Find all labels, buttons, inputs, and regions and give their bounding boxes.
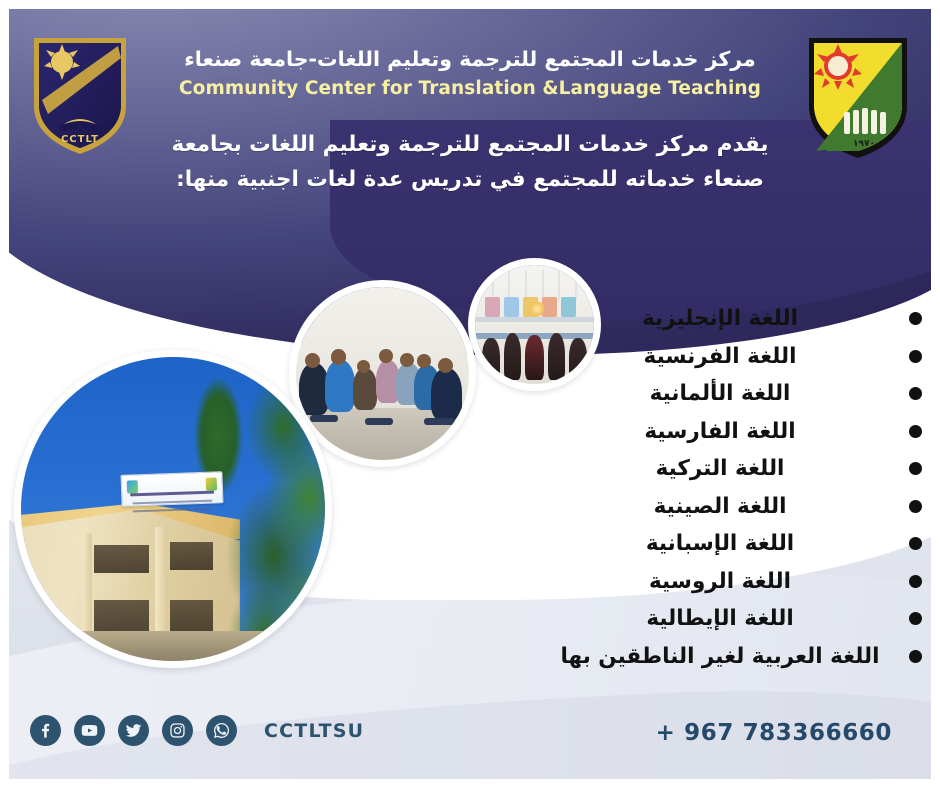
bullet-icon [909,312,922,325]
header-titles: مركز خدمات المجتمع للترجمة وتعليم اللغات… [150,46,790,99]
campus-building-photo [14,350,332,668]
phone-number: + 967 783366660 [656,720,892,746]
language-list: اللغة الإنجليزية اللغة الفرنسية اللغة ال… [504,300,924,675]
bullet-icon [909,575,922,588]
bullet-icon [909,462,922,475]
poster-header: CCTLT مركز خدمات المجتمع للترجمة وتعليم … [0,0,940,215]
language-label: اللغة الفرنسية [504,344,892,369]
language-label: اللغة العربية لغير الناطقين بها [504,644,892,669]
youtube-icon[interactable] [74,715,105,746]
instagram-icon[interactable] [162,715,193,746]
bullet-icon [909,537,922,550]
bullet-icon [909,387,922,400]
bullet-icon [909,650,922,663]
poster-footer: CCTLTSU + 967 783366660 [0,678,940,788]
list-item[interactable]: اللغة العربية لغير الناطقين بها [504,638,924,676]
svg-text:١٩٧٠: ١٩٧٠ [853,139,875,149]
facebook-icon[interactable] [30,715,61,746]
poster-root: CCTLT مركز خدمات المجتمع للترجمة وتعليم … [0,0,940,788]
list-item[interactable]: اللغة الإيطالية [504,600,924,638]
bullet-icon [909,425,922,438]
intro-line-1: يقدم مركز خدمات المجتمع للترجمة وتعليم ا… [120,128,820,163]
svg-text:CCTLT: CCTLT [61,134,99,145]
bullet-icon [909,350,922,363]
list-item[interactable]: اللغة الإنجليزية [504,300,924,338]
language-label: اللغة الفارسية [504,419,892,444]
twitter-icon[interactable] [118,715,149,746]
language-label: اللغة الإنجليزية [504,306,892,331]
list-item[interactable]: اللغة التركية [504,450,924,488]
social-handle: CCTLTSU [264,720,364,742]
language-label: اللغة الصينية [504,494,892,519]
title-english: Community Center for Translation &Langua… [150,78,790,99]
language-label: اللغة التركية [504,456,892,481]
social-links: CCTLTSU [30,715,364,746]
language-label: اللغة الألمانية [504,381,892,406]
list-item[interactable]: اللغة الصينية [504,488,924,526]
language-label: اللغة الإسبانية [504,531,892,556]
list-item[interactable]: اللغة الإسبانية [504,525,924,563]
cctlt-shield-logo: CCTLT [28,28,132,156]
language-label: اللغة الإيطالية [504,606,892,631]
list-item[interactable]: اللغة الفارسية [504,413,924,451]
bullet-icon [909,612,922,625]
bullet-icon [909,500,922,513]
list-item[interactable]: اللغة الألمانية [504,375,924,413]
list-item[interactable]: اللغة الروسية [504,563,924,601]
title-arabic: مركز خدمات المجتمع للترجمة وتعليم اللغات… [150,46,790,74]
language-label: اللغة الروسية [504,569,892,594]
intro-line-2: صنعاء خدماته للمجتمع في تدريس عدة لغات ا… [120,163,820,198]
list-item[interactable]: اللغة الفرنسية [504,338,924,376]
whatsapp-icon[interactable] [206,715,237,746]
sanaa-university-logo: ١٩٧٠ [804,30,912,160]
intro-paragraph: يقدم مركز خدمات المجتمع للترجمة وتعليم ا… [120,128,820,198]
